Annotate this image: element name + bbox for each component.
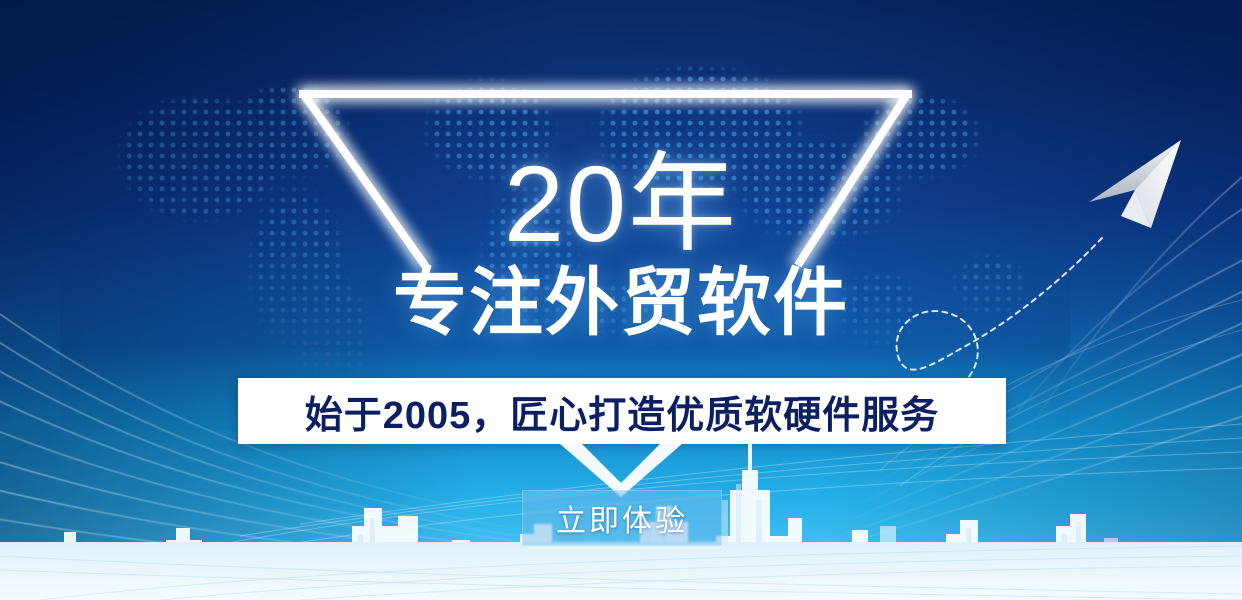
cta-button[interactable]: 立即体验 (522, 490, 722, 546)
paper-plane-icon (1085, 132, 1235, 252)
cta-button-label: 立即体验 (556, 496, 688, 540)
promo-banner: 20年 专注外贸软件 始于2005，匠心打造优质软硬件服务 (0, 0, 1242, 600)
